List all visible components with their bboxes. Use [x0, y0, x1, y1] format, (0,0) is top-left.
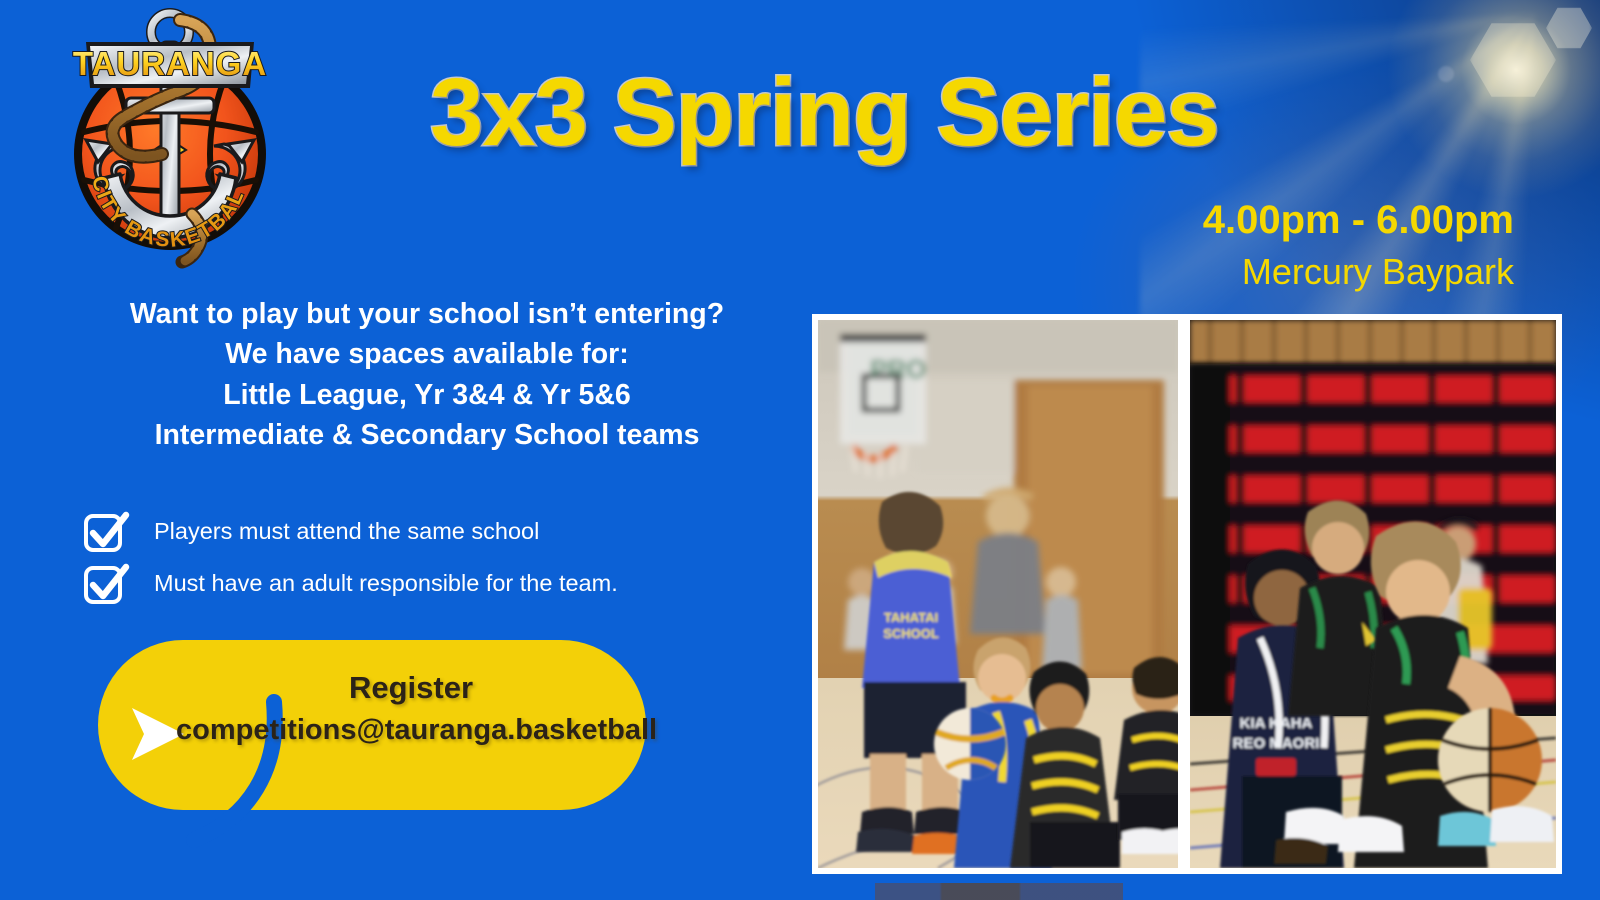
event-venue: Mercury Baypark: [1203, 249, 1514, 294]
requirements-checklist: Players must attend the same school Must…: [82, 505, 702, 609]
poster-title: 3x3 Spring Series: [430, 58, 1219, 168]
svg-text:TAHATAI: TAHATAI: [884, 610, 938, 625]
body-line-2: We have spaces available for:: [112, 334, 742, 374]
register-email: competitions@tauranga.basketball: [176, 712, 646, 750]
checklist-item-label: Must have an adult responsible for the t…: [154, 569, 618, 597]
photo-right-image: KIA KAHA REO MAORI: [1190, 320, 1556, 868]
logo-banner-text: TAURANGA: [73, 45, 267, 82]
body-line-3: Little League, Yr 3&4 & Yr 5&6: [112, 375, 742, 415]
photo-left-image: PRO: [818, 320, 1178, 868]
poster-canvas: TAURANGA CITY BASKETBALL 3x3 Spring Seri…: [0, 0, 1600, 900]
body-line-4: Intermediate & Secondary School teams: [112, 415, 742, 455]
tauranga-city-basketball-logo: TAURANGA CITY BASKETBALL: [58, 2, 282, 274]
register-label: Register: [176, 668, 646, 708]
photo-left: PRO: [812, 314, 1184, 874]
svg-text:PRO: PRO: [870, 354, 926, 384]
checkbox-checked-icon: [82, 508, 128, 554]
checkbox-checked-icon: [82, 560, 128, 606]
register-cta[interactable]: Register competitions@tauranga.basketbal…: [98, 640, 646, 810]
event-details: 4.00pm - 6.00pm Mercury Baypark: [1203, 198, 1514, 294]
body-line-1: Want to play but your school isn’t enter…: [112, 294, 742, 334]
svg-text:KIA KAHA: KIA KAHA: [1240, 715, 1313, 732]
checklist-item: Players must attend the same school: [82, 505, 702, 557]
checklist-item-label: Players must attend the same school: [154, 517, 539, 545]
svg-text:REO MAORI: REO MAORI: [1233, 735, 1320, 752]
register-button-text: Register competitions@tauranga.basketbal…: [176, 668, 646, 750]
event-time: 4.00pm - 6.00pm: [1203, 198, 1514, 243]
body-copy: Want to play but your school isn’t enter…: [112, 294, 742, 456]
bottom-strip: [875, 883, 1123, 900]
lens-flare-dot-icon: [1438, 66, 1454, 82]
checklist-item: Must have an adult responsible for the t…: [82, 557, 702, 609]
svg-text:SCHOOL: SCHOOL: [883, 626, 939, 641]
photo-right: KIA KAHA REO MAORI: [1184, 314, 1562, 874]
